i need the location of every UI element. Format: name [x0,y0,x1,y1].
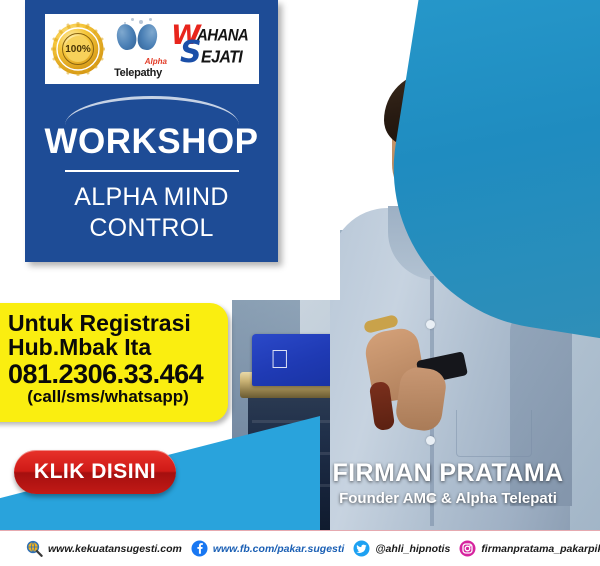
registration-line-2: Hub.Mbak Ita [8,335,220,359]
subtitle-line-1: ALPHA MIND [25,182,278,213]
registration-phone: 081.2306.33.464 [8,360,220,389]
sejati-s-initial: S [180,38,202,68]
footer-bar: www.kekuatansugesti.com www.fb.com/pakar… [0,530,600,566]
registration-channels: (call/sms/whatsapp) [8,388,220,406]
facebook-icon [191,540,208,557]
footer-website-text: www.kekuatansugesti.com [48,543,182,555]
footer-twitter-text: @ahli_hipnotis [375,543,450,555]
panel-arc-decoration [65,96,239,125]
two-heads-telepathy-icon: Alpha Telepathy [107,18,169,80]
telepathy-main-word: Telepathy [107,68,169,79]
workshop-panel: 100% Alpha Telepathy W AHANA S [25,0,278,262]
registration-box: Untuk Registrasi Hub.Mbak Ita 081.2306.3… [0,303,228,422]
logo-bar: 100% Alpha Telepathy W AHANA S [45,14,259,84]
telepathy-alpha-word: Alpha [145,58,167,66]
klik-disini-button[interactable]: KLIK DISINI [14,450,176,494]
speaker-name: FIRMAN PRATAMA [300,460,596,488]
promo-banner:  [0,0,600,566]
footer-item-instagram[interactable]: firmanpratama_pakarpikiran [459,540,600,557]
footer-instagram-text: firmanpratama_pakarpikiran [481,543,600,555]
apple-logo-icon:  [270,346,290,372]
sejati-word: EJATI [201,49,242,67]
footer-facebook-text: www.fb.com/pakar.sugesti [213,543,344,555]
speaker-role: Founder AMC & Alpha Telepati [300,489,596,509]
footer-item-facebook[interactable]: www.fb.com/pakar.sugesti [191,540,344,557]
title-divider [65,170,239,172]
wahana-sejati-logo: W AHANA S EJATI [171,20,253,78]
registration-line-1: Untuk Registrasi [8,311,220,335]
wahana-word: AHANA [197,27,248,44]
instagram-icon [459,540,476,557]
footer-item-twitter[interactable]: @ahli_hipnotis [353,540,450,557]
footer-item-website[interactable]: www.kekuatansugesti.com [26,540,182,557]
twitter-icon [353,540,370,557]
guarantee-seal-icon: 100% [51,22,105,76]
workshop-subtitle: ALPHA MIND CONTROL [25,182,278,243]
page-title: WORKSHOP [25,124,278,159]
subtitle-line-2: CONTROL [25,213,278,244]
seal-percent: 100% [51,22,105,76]
speaker-caption: FIRMAN PRATAMA Founder AMC & Alpha Telep… [300,460,596,508]
website-magnifier-icon [26,540,43,557]
shirt-pocket [456,410,532,457]
